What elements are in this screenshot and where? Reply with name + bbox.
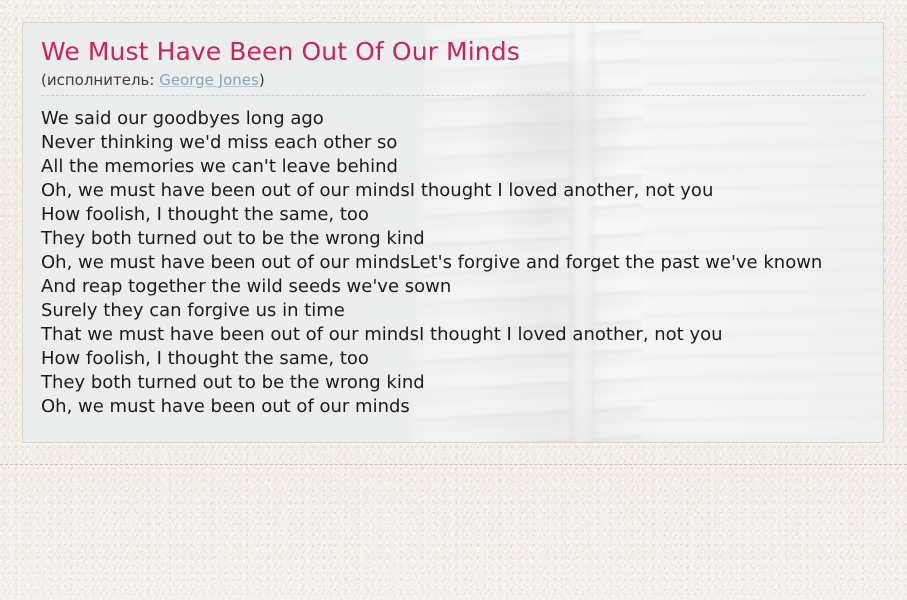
artist-link[interactable]: George Jones [159, 71, 259, 89]
artist-paren-close: ) [259, 71, 265, 89]
artist-line: (исполнитель: George Jones) [41, 70, 865, 90]
lyrics-card: We Must Have Been Out Of Our Minds (испо… [22, 22, 884, 443]
lyric-line: Surely they can forgive us in time [41, 299, 865, 323]
page-divider [0, 464, 907, 465]
lyrics-text: We said our goodbyes long agoNever think… [41, 107, 865, 419]
header-divider [41, 95, 865, 96]
lyric-line: They both turned out to be the wrong kin… [41, 371, 865, 395]
lyric-line: Oh, we must have been out of our mindsLe… [41, 251, 865, 275]
lyric-line: Oh, we must have been out of our minds [41, 395, 865, 419]
lyric-line: Oh, we must have been out of our mindsI … [41, 179, 865, 203]
lyric-line: Never thinking we'd miss each other so [41, 131, 865, 155]
lyric-line: And reap together the wild seeds we've s… [41, 275, 865, 299]
lyric-line: That we must have been out of our mindsI… [41, 323, 865, 347]
artist-label: (исполнитель: [41, 71, 159, 89]
lyric-line: How foolish, I thought the same, too [41, 203, 865, 227]
lyric-line: They both turned out to be the wrong kin… [41, 227, 865, 251]
lyric-line: We said our goodbyes long ago [41, 107, 865, 131]
lyric-line: How foolish, I thought the same, too [41, 347, 865, 371]
card-content: We Must Have Been Out Of Our Minds (испо… [23, 23, 883, 419]
lyric-line: All the memories we can't leave behind [41, 155, 865, 179]
page-title: We Must Have Been Out Of Our Minds [41, 37, 865, 67]
